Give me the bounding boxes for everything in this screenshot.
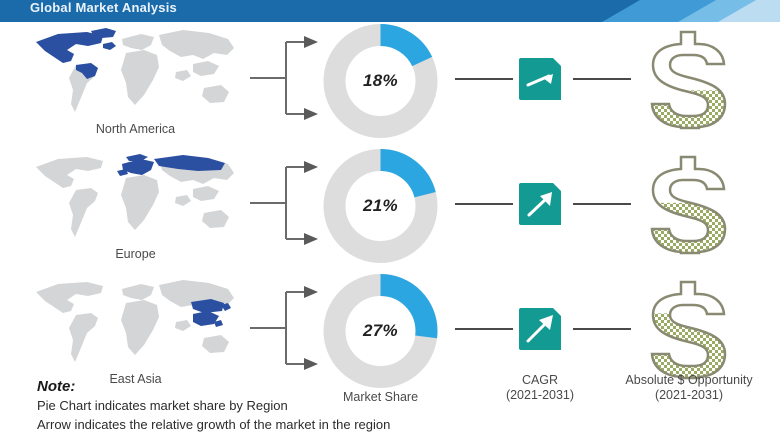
region-row-europe: Europe 21% — [0, 147, 780, 272]
arrowhead-down-icon — [304, 233, 318, 245]
connector-line-donut-to-cagr — [455, 328, 513, 330]
dollar-sign-svg — [637, 153, 737, 257]
connector-line-cagr-to-dollar — [573, 78, 631, 80]
column-label-absolute-line2: (2021-2031) — [600, 388, 778, 403]
column-label-absolute-opportunity: Absolute $ Opportunity (2021-2031) — [600, 373, 778, 403]
column-label-cagr-line2: (2021-2031) — [490, 388, 590, 403]
cagr-arrow-svg — [515, 304, 565, 354]
bracket-connector — [250, 280, 322, 376]
banner-title: Global Market Analysis — [30, 0, 177, 19]
cagr-arrow-svg — [515, 54, 565, 104]
bracket-connector — [250, 155, 322, 251]
donut-percent-label: 18% — [318, 20, 443, 142]
donut-percent-label: 27% — [318, 270, 443, 392]
donut-chart-europe: 21% — [318, 145, 443, 267]
donut-chart-east-asia: 27% — [318, 270, 443, 392]
cagr-arrow-icon-north-america — [515, 54, 565, 104]
column-label-cagr: CAGR (2021-2031) — [490, 373, 590, 403]
world-map-europe — [28, 149, 243, 249]
absolute-opportunity-icon-europe — [637, 153, 737, 257]
column-label-cagr-line1: CAGR — [490, 373, 590, 388]
connector-line-donut-to-cagr — [455, 203, 513, 205]
region-row-north-america: North America 18% — [0, 22, 780, 147]
arrowhead-up-icon — [304, 36, 318, 48]
dollar-sign-svg — [637, 28, 737, 132]
column-label-absolute-line1: Absolute $ Opportunity — [600, 373, 778, 388]
arrowhead-up-icon — [304, 161, 318, 173]
arrowhead-up-icon — [304, 286, 318, 298]
region-label: North America — [28, 122, 243, 136]
connector-line-donut-to-cagr — [455, 78, 513, 80]
world-map-svg — [28, 274, 243, 374]
note-block: Note: Pie Chart indicates market share b… — [37, 377, 457, 434]
connector-line-cagr-to-dollar — [573, 203, 631, 205]
dollar-sign-svg — [637, 278, 737, 382]
donut-percent-label: 21% — [318, 145, 443, 267]
absolute-opportunity-icon-north-america — [637, 28, 737, 132]
banner-angle-decoration — [520, 0, 780, 22]
cagr-arrow-icon-europe — [515, 179, 565, 229]
donut-chart-north-america: 18% — [318, 20, 443, 142]
bracket-connector — [250, 30, 322, 126]
absolute-opportunity-icon-east-asia — [637, 278, 737, 382]
note-line-2: Arrow indicates the relative growth of t… — [37, 415, 457, 434]
region-label: Europe — [28, 247, 243, 261]
world-map-svg — [28, 149, 243, 249]
arrowhead-down-icon — [304, 108, 318, 120]
arrowhead-down-icon — [304, 358, 318, 370]
cagr-arrow-svg — [515, 179, 565, 229]
world-map-north-america — [28, 24, 243, 124]
note-title: Note: — [37, 377, 457, 396]
world-map-svg — [28, 24, 243, 124]
connector-line-cagr-to-dollar — [573, 328, 631, 330]
infographic-page: Global Market Analysis — [0, 0, 780, 440]
cagr-arrow-icon-east-asia — [515, 304, 565, 354]
note-line-1: Pie Chart indicates market share by Regi… — [37, 396, 457, 415]
world-map-east-asia — [28, 274, 243, 374]
header-banner: Global Market Analysis — [0, 0, 780, 22]
